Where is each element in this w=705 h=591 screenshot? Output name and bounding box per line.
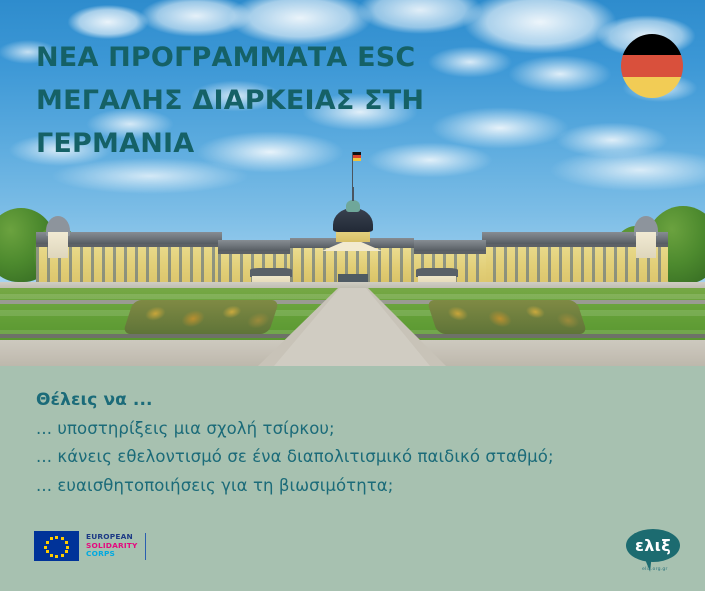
flower-bed-right	[426, 300, 587, 334]
page-title: ΝΕΑ ΠΡΟΓΡΑΜΜΑΤΑ ESC ΜΕΓΑΛΗΣ ΔΙΑΡΚΕΙΑΣ ΣΤ…	[36, 36, 466, 165]
list-item: ... ευαισθητοποιήσεις για τη βιωσιμότητα…	[36, 476, 393, 495]
elix-wordmark: ελιξ	[626, 536, 680, 555]
headline-line-2: ΜΕΓΑΛΗΣ ΔΙΑΡΚΕΙΑΣ ΣΤΗ	[36, 79, 466, 122]
headline-line-1: ΝΕΑ ΠΡΟΓΡΑΜΜΑΤΑ ESC	[36, 36, 466, 79]
poster: ΝΕΑ ΠΡΟΓΡΑΜΜΑΤΑ ESC ΜΕΓΑΛΗΣ ΔΙΑΡΚΕΙΑΣ ΣΤ…	[0, 0, 705, 591]
flower-bed-left	[122, 300, 279, 334]
esc-wordmark: EUROPEAN SOLIDARITY CORPS	[86, 533, 138, 559]
elix-url: elix.org.gr	[642, 567, 668, 572]
esc-word-corps: CORPS	[86, 550, 138, 559]
germany-flag-icon	[621, 34, 683, 98]
central-path	[0, 288, 705, 366]
european-solidarity-corps-logo: EUROPEAN SOLIDARITY CORPS	[34, 531, 152, 561]
panel-heading: Θέλεις να ...	[36, 390, 153, 410]
karlsruhe-palace	[0, 196, 705, 288]
headline-line-3: ΓΕΡΜΑΝΙΑ	[36, 122, 466, 165]
eu-flag-icon	[34, 531, 79, 561]
list-item: ... κάνεις εθελοντισμό σε ένα διαπολιτισ…	[36, 447, 554, 466]
elix-logo: ελιξ elix.org.gr	[626, 529, 688, 579]
logo-divider	[145, 533, 146, 560]
list-item: ... υποστηρίξεις μια σχολή τσίρκου;	[36, 419, 335, 438]
